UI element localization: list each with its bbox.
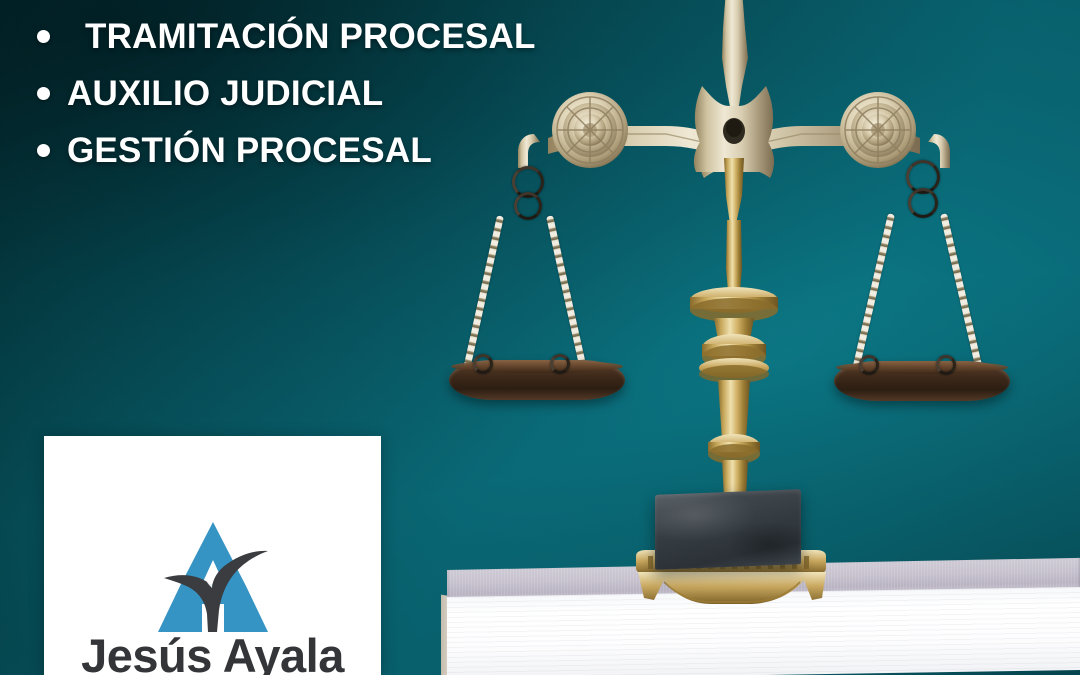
logo-mark-svg [150, 520, 276, 634]
logo-card: Jesús Ayala [44, 436, 381, 675]
bullet-label: TRAMITACIÓN PROCESAL [67, 19, 536, 54]
list-item: GESTIÓN PROCESAL [0, 122, 680, 179]
scale-base-block [655, 489, 801, 570]
bullet-label: AUXILIO JUDICIAL [67, 76, 383, 111]
chain-ring-left-lower [514, 192, 542, 220]
logo-wordmark: Jesús Ayala [44, 632, 381, 675]
chain-ring-right-lower [908, 188, 938, 218]
stylized-a-with-swoosh-icon [150, 520, 276, 634]
list-item: TRAMITACIÓN PROCESAL [0, 8, 680, 65]
scale-column [690, 158, 778, 498]
service-bullet-list: TRAMITACIÓN PROCESAL AUXILIO JUDICIAL GE… [0, 8, 680, 179]
pan-left-ring-a [473, 354, 493, 374]
pan-right-ring-a [859, 355, 879, 375]
scale-rosette-right [840, 92, 916, 168]
bullet-label: GESTIÓN PROCESAL [67, 133, 432, 168]
scale-upper-post [722, 0, 748, 112]
pan-left-ring-b [550, 354, 570, 374]
pan-right-ring-b [936, 355, 956, 375]
list-item: AUXILIO JUDICIAL [0, 65, 680, 122]
bullet-dot-icon [37, 30, 50, 43]
bullet-dot-icon [37, 144, 50, 157]
poster-canvas: TRAMITACIÓN PROCESAL AUXILIO JUDICIAL GE… [0, 0, 1080, 675]
bullet-dot-icon [37, 87, 50, 100]
